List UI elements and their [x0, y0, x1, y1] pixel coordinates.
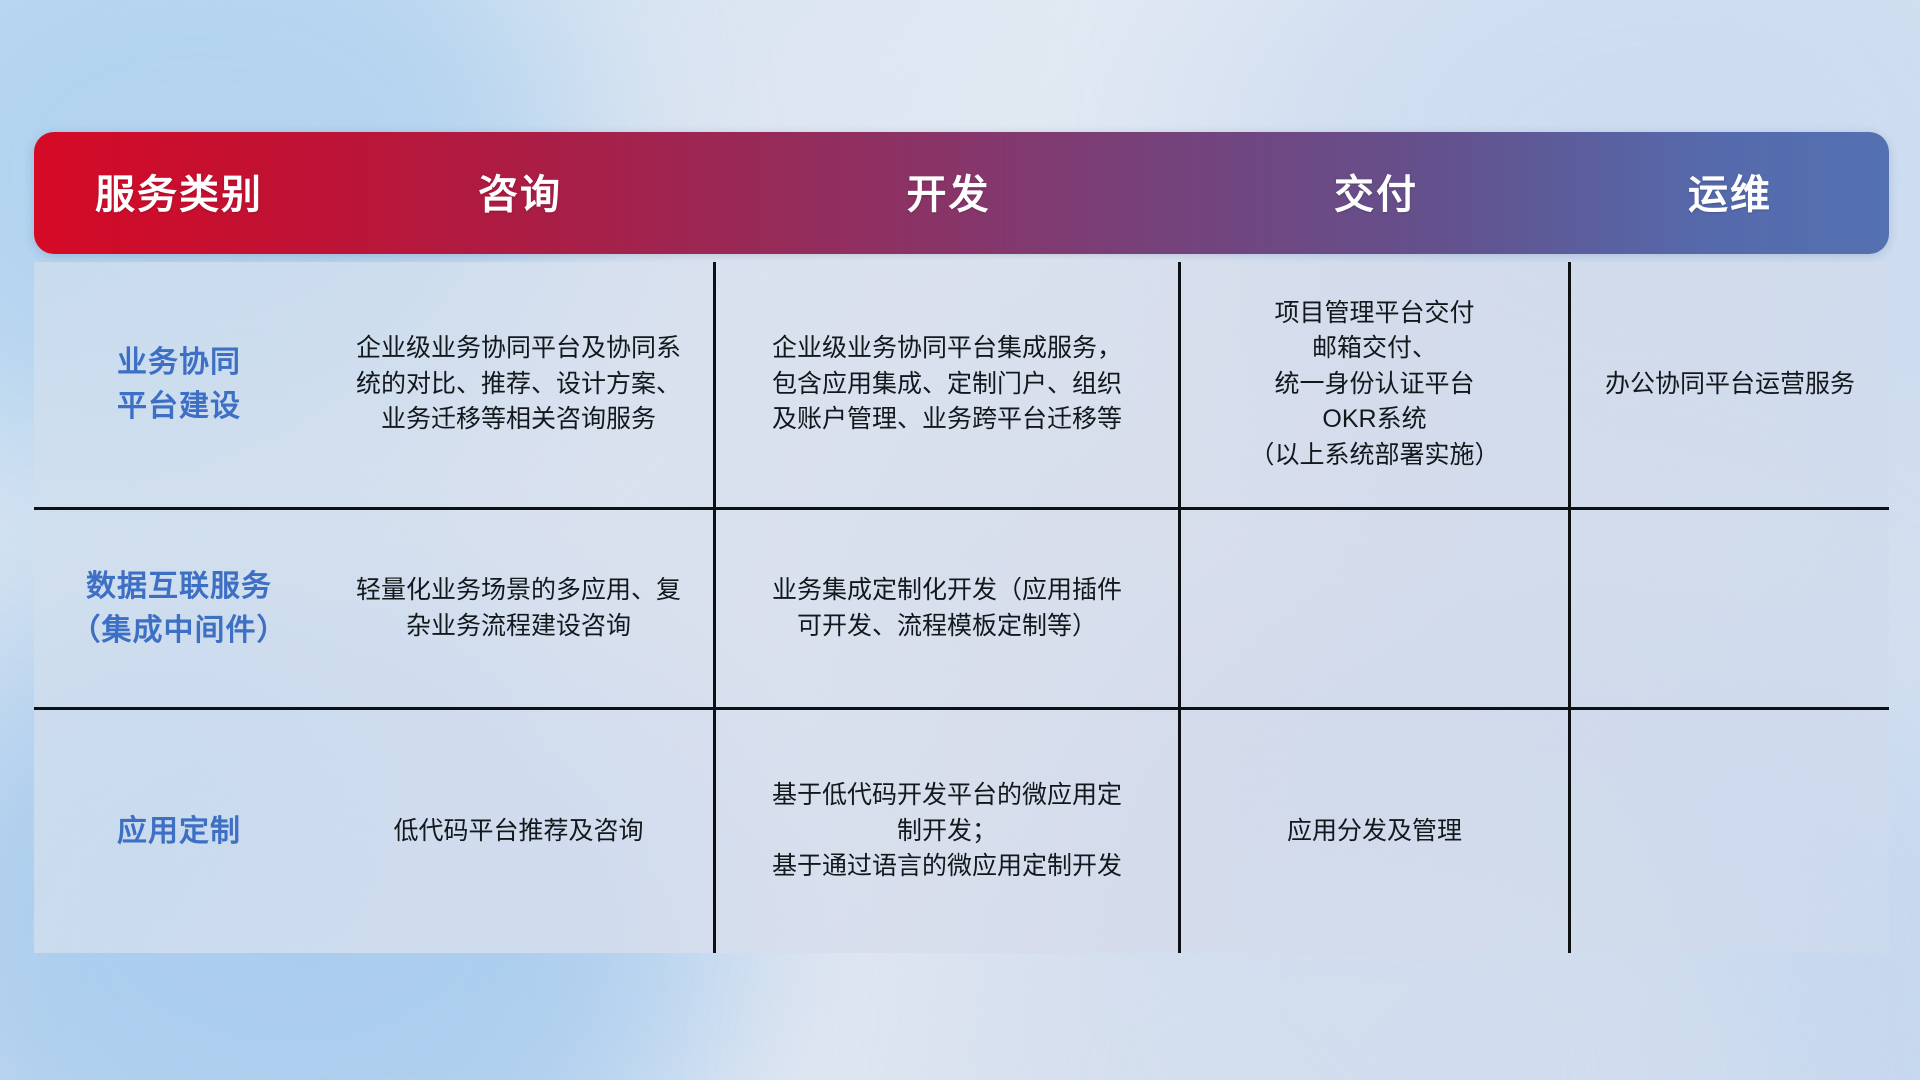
cell-operations [1571, 710, 1889, 953]
table-header-cell-development: 开发 [716, 132, 1181, 254]
cell-category: 数据互联服务 （集成中间件） [34, 510, 324, 707]
cell-operations [1571, 510, 1889, 707]
table-header-cell-consulting: 咨询 [324, 132, 716, 254]
table-header-cell-category: 服务类别 [34, 132, 324, 254]
cell-delivery: 项目管理平台交付 邮箱交付、 统一身份认证平台 OKR系统 （以上系统部署实施） [1181, 262, 1571, 507]
table-header-row: 服务类别 咨询 开发 交付 运维 [34, 132, 1889, 254]
table-row: 数据互联服务 （集成中间件） 轻量化业务场景的多应用、复 杂业务流程建设咨询 业… [34, 510, 1889, 710]
slide-canvas: 服务类别 咨询 开发 交付 运维 业务协同 平台建设 企业级业务协同平台及协同系… [0, 0, 1920, 1080]
table-header-cell-delivery: 交付 [1181, 132, 1571, 254]
table-header-cell-operations: 运维 [1571, 132, 1889, 254]
service-matrix-table: 服务类别 咨询 开发 交付 运维 业务协同 平台建设 企业级业务协同平台及协同系… [34, 132, 1889, 953]
table-body: 业务协同 平台建设 企业级业务协同平台及协同系 统的对比、推荐、设计方案、 业务… [34, 262, 1889, 953]
cell-development: 业务集成定制化开发（应用插件 可开发、流程模板定制等） [716, 510, 1181, 707]
cell-consulting: 企业级业务协同平台及协同系 统的对比、推荐、设计方案、 业务迁移等相关咨询服务 [324, 262, 716, 507]
cell-consulting: 低代码平台推荐及咨询 [324, 710, 716, 953]
cell-delivery: 应用分发及管理 [1181, 710, 1571, 953]
cell-development: 基于低代码开发平台的微应用定 制开发； 基于通过语言的微应用定制开发 [716, 710, 1181, 953]
table-row: 应用定制 低代码平台推荐及咨询 基于低代码开发平台的微应用定 制开发； 基于通过… [34, 710, 1889, 953]
cell-category: 业务协同 平台建设 [34, 262, 324, 507]
cell-development: 企业级业务协同平台集成服务， 包含应用集成、定制门户、组织 及账户管理、业务跨平… [716, 262, 1181, 507]
table-row: 业务协同 平台建设 企业级业务协同平台及协同系 统的对比、推荐、设计方案、 业务… [34, 262, 1889, 510]
cell-delivery [1181, 510, 1571, 707]
cell-operations: 办公协同平台运营服务 [1571, 262, 1889, 507]
cell-consulting: 轻量化业务场景的多应用、复 杂业务流程建设咨询 [324, 510, 716, 707]
cell-category: 应用定制 [34, 710, 324, 953]
